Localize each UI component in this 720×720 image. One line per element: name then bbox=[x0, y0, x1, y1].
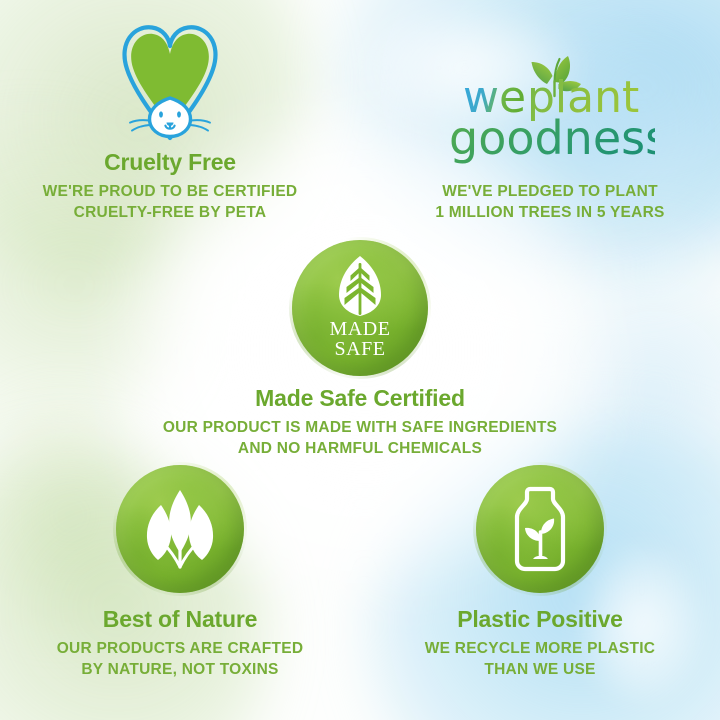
cruelty-free-description-line-1: WE'RE PROUD TO BE CERTIFIED bbox=[0, 182, 340, 203]
claim-we-plant-goodness: we plant goodness WE'VE PLEDGED TO PLANT… bbox=[380, 40, 720, 223]
best-of-nature-title: Best of Nature bbox=[20, 607, 340, 632]
best-of-nature-description: OUR PRODUCTS ARE CRAFTED BY NATURE, NOT … bbox=[20, 639, 340, 680]
bottle-with-sprout-badge bbox=[476, 465, 604, 593]
best-of-nature-description-line-2: BY NATURE, NOT TOXINS bbox=[20, 660, 340, 681]
peta-cruelty-free-bunny-icon bbox=[108, 22, 232, 150]
plastic-positive-description-line-2: THAN WE USE bbox=[380, 660, 700, 681]
three-leaf-sprout-icon bbox=[137, 487, 223, 571]
we-plant-goodness-description-line-1: WE'VE PLEDGED TO PLANT bbox=[380, 182, 720, 203]
made-safe-description: OUR PRODUCT IS MADE WITH SAFE INGREDIENT… bbox=[140, 418, 580, 459]
made-safe-badge-slot: MADE SAFE bbox=[140, 240, 580, 376]
logo-word-goodness: goodness bbox=[449, 111, 655, 165]
sustainability-claims-poster: Cruelty Free WE'RE PROUD TO BE CERTIFIED… bbox=[0, 0, 720, 720]
cruelty-free-description: WE'RE PROUD TO BE CERTIFIED CRUELTY-FREE… bbox=[0, 182, 340, 223]
made-safe-title: Made Safe Certified bbox=[140, 386, 580, 411]
we-plant-goodness-description: WE'VE PLEDGED TO PLANT 1 MILLION TREES I… bbox=[380, 182, 720, 223]
plastic-positive-title: Plastic Positive bbox=[380, 607, 700, 632]
best-of-nature-badge-slot bbox=[20, 465, 340, 593]
bottle-with-sprout-icon bbox=[503, 485, 577, 573]
claim-cruelty-free: Cruelty Free WE'RE PROUD TO BE CERTIFIED… bbox=[0, 18, 340, 224]
made-safe-leaf-badge: MADE SAFE bbox=[292, 240, 428, 376]
claim-made-safe-certified: MADE SAFE Made Safe Certified OUR PRODUC… bbox=[140, 240, 580, 460]
cruelty-free-title: Cruelty Free bbox=[0, 150, 340, 175]
claim-best-of-nature: Best of Nature OUR PRODUCTS ARE CRAFTED … bbox=[20, 465, 340, 681]
plastic-positive-description: WE RECYCLE MORE PLASTIC THAN WE USE bbox=[380, 639, 700, 680]
we-plant-goodness-description-line-2: 1 MILLION TREES IN 5 YEARS bbox=[380, 203, 720, 224]
made-safe-badge-wordmark: MADE SAFE bbox=[330, 320, 391, 359]
we-plant-goodness-logo-icon: we plant goodness bbox=[445, 50, 655, 168]
made-safe-description-line-2: AND NO HARMFUL CHEMICALS bbox=[140, 439, 580, 460]
claim-plastic-positive: Plastic Positive WE RECYCLE MORE PLASTIC… bbox=[380, 465, 700, 681]
we-plant-goodness-logo-slot: we plant goodness bbox=[380, 40, 720, 168]
made-safe-description-line-1: OUR PRODUCT IS MADE WITH SAFE INGREDIENT… bbox=[140, 418, 580, 439]
leaf-icon bbox=[336, 255, 384, 317]
cruelty-free-description-line-2: CRUELTY-FREE BY PETA bbox=[0, 203, 340, 224]
plastic-positive-description-line-1: WE RECYCLE MORE PLASTIC bbox=[380, 639, 700, 660]
made-safe-badge-word-2: SAFE bbox=[330, 340, 391, 359]
made-safe-badge-content: MADE SAFE bbox=[330, 255, 391, 359]
three-leaf-sprout-badge bbox=[116, 465, 244, 593]
plastic-positive-badge-slot bbox=[380, 465, 700, 593]
best-of-nature-description-line-1: OUR PRODUCTS ARE CRAFTED bbox=[20, 639, 340, 660]
cruelty-free-logo-slot bbox=[0, 18, 340, 150]
